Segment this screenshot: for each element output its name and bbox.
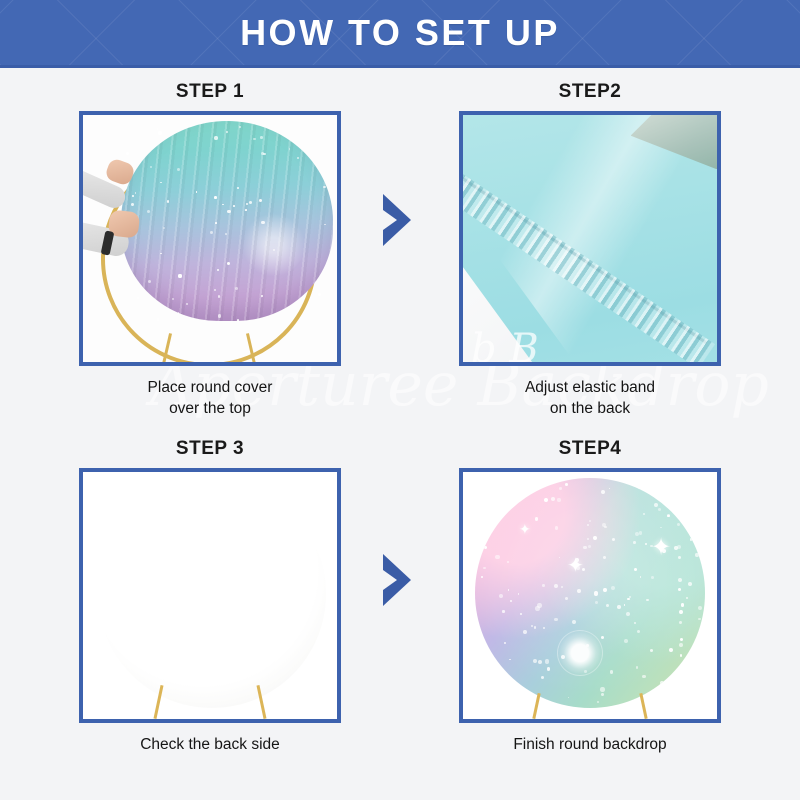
step-3-caption: Check the back side <box>65 734 355 755</box>
header-banner: HOW TO SET UP <box>0 0 800 68</box>
finished-backdrop: ✦ ✦ ✦ <box>475 478 705 708</box>
step-card-3: STEP 3 Check the back side <box>65 437 355 755</box>
step-2-photo-frame: b B <box>459 111 721 366</box>
step-1-photo-frame <box>79 111 341 366</box>
chevron-right-icon <box>375 550 419 610</box>
step-1-caption-line-1: Place round cover <box>65 377 355 398</box>
page-title: HOW TO SET UP <box>0 0 800 65</box>
step-1-caption-line-2: over the top <box>65 398 355 419</box>
step-1-caption: Place round cover over the top <box>65 377 355 419</box>
step-3-caption-line-1: Check the back side <box>65 734 355 755</box>
step-4-caption-line-1: Finish round backdrop <box>445 734 735 755</box>
step-3-photo <box>83 472 337 719</box>
steps-grid: STEP 1 <box>0 68 800 800</box>
instruction-graphic: HOW TO SET UP Aperturee Backdrop STEP 1 <box>0 0 800 800</box>
step-card-4: STEP4 ✦ ✦ ✦ Finish round backdrop <box>445 437 735 755</box>
step-2-caption-line-1: Adjust elastic band <box>445 377 735 398</box>
step-3-photo-frame <box>79 468 341 723</box>
step-card-2: STEP2 b B Adjust elastic band on the bac… <box>445 80 735 419</box>
step-4-photo-frame: ✦ ✦ ✦ <box>459 468 721 723</box>
photo-watermark: b B <box>471 326 539 362</box>
step-1-title: STEP 1 <box>65 80 355 104</box>
step-4-photo: ✦ ✦ ✦ <box>463 472 717 719</box>
step-2-photo: b B <box>463 115 717 362</box>
step-4-title: STEP4 <box>445 437 735 461</box>
chevron-right-icon <box>375 190 419 250</box>
gradient-cover-fabric <box>121 121 333 321</box>
step-4-caption: Finish round backdrop <box>445 734 735 755</box>
step-2-caption: Adjust elastic band on the back <box>445 377 735 419</box>
step-1-photo <box>83 115 337 362</box>
step-3-title: STEP 3 <box>65 437 355 461</box>
step-card-1: STEP 1 <box>65 80 355 419</box>
step-2-title: STEP2 <box>445 80 735 104</box>
step-2-caption-line-2: on the back <box>445 398 735 419</box>
